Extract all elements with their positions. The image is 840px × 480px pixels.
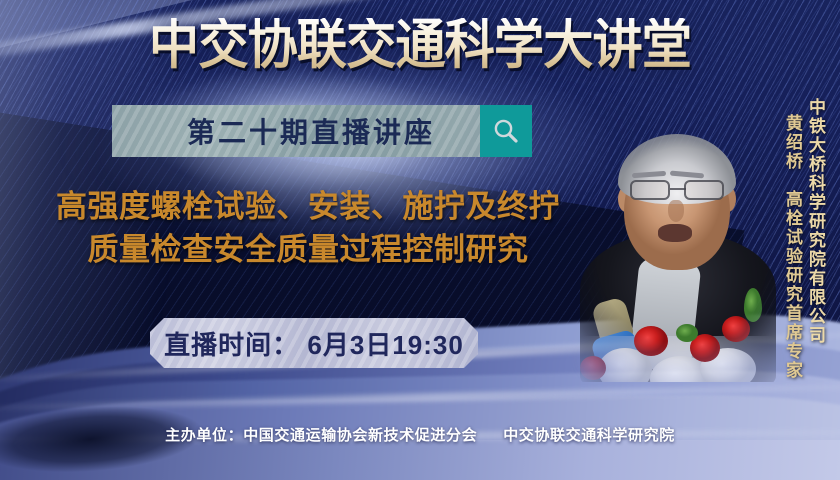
speaker-info: 黄绍桥 高栓试验研究首席专家 中铁大桥科学研究院有限公司 (784, 98, 824, 380)
poster-canvas: 中交协联交通科学大讲堂 第二十期直播讲座 高强度螺栓试验、安装、施拧及终拧 质量… (0, 0, 840, 480)
speaker-nose (668, 200, 684, 222)
foliage (676, 324, 698, 342)
glasses-icon (628, 180, 728, 202)
flower-red (580, 356, 606, 380)
footer-organizers: 主办单位：中国交通运输协会新技术促进分会中交协联交通科学研究院 (0, 424, 840, 445)
broadcast-time-chip: 直播时间： 6月3日19:30 (150, 318, 478, 368)
speaker-organization: 中铁大桥科学研究院有限公司 (807, 98, 824, 345)
search-button[interactable] (480, 105, 532, 157)
flower-red (722, 316, 750, 342)
search-icon (491, 116, 521, 146)
page-title: 中交协联交通科学大讲堂 (29, 18, 810, 72)
flower-red (634, 326, 668, 356)
speaker-mouth (658, 224, 692, 242)
broadcast-time-text: 直播时间： 6月3日19:30 (164, 325, 464, 362)
headline-line-1: 高强度螺栓试验、安装、施拧及终拧 (56, 189, 560, 224)
subtitle-bar: 第二十期直播讲座 (112, 105, 532, 157)
speaker-name-role: 黄绍桥 高栓试验研究首席专家 (784, 114, 801, 380)
headline-line-2: 质量检查安全质量过程控制研究 (8, 229, 608, 272)
foliage (744, 288, 762, 322)
footer-prefix: 主办单位： (165, 427, 243, 444)
subtitle-text: 第二十期直播讲座 (112, 111, 480, 151)
footer-org-1: 中国交通运输协会新技术促进分会 (243, 427, 477, 444)
footer-org-2: 中交协联交通科学研究院 (503, 427, 675, 444)
lecture-headline: 高强度螺栓试验、安装、施拧及终拧 质量检查安全质量过程控制研究 (8, 186, 608, 272)
